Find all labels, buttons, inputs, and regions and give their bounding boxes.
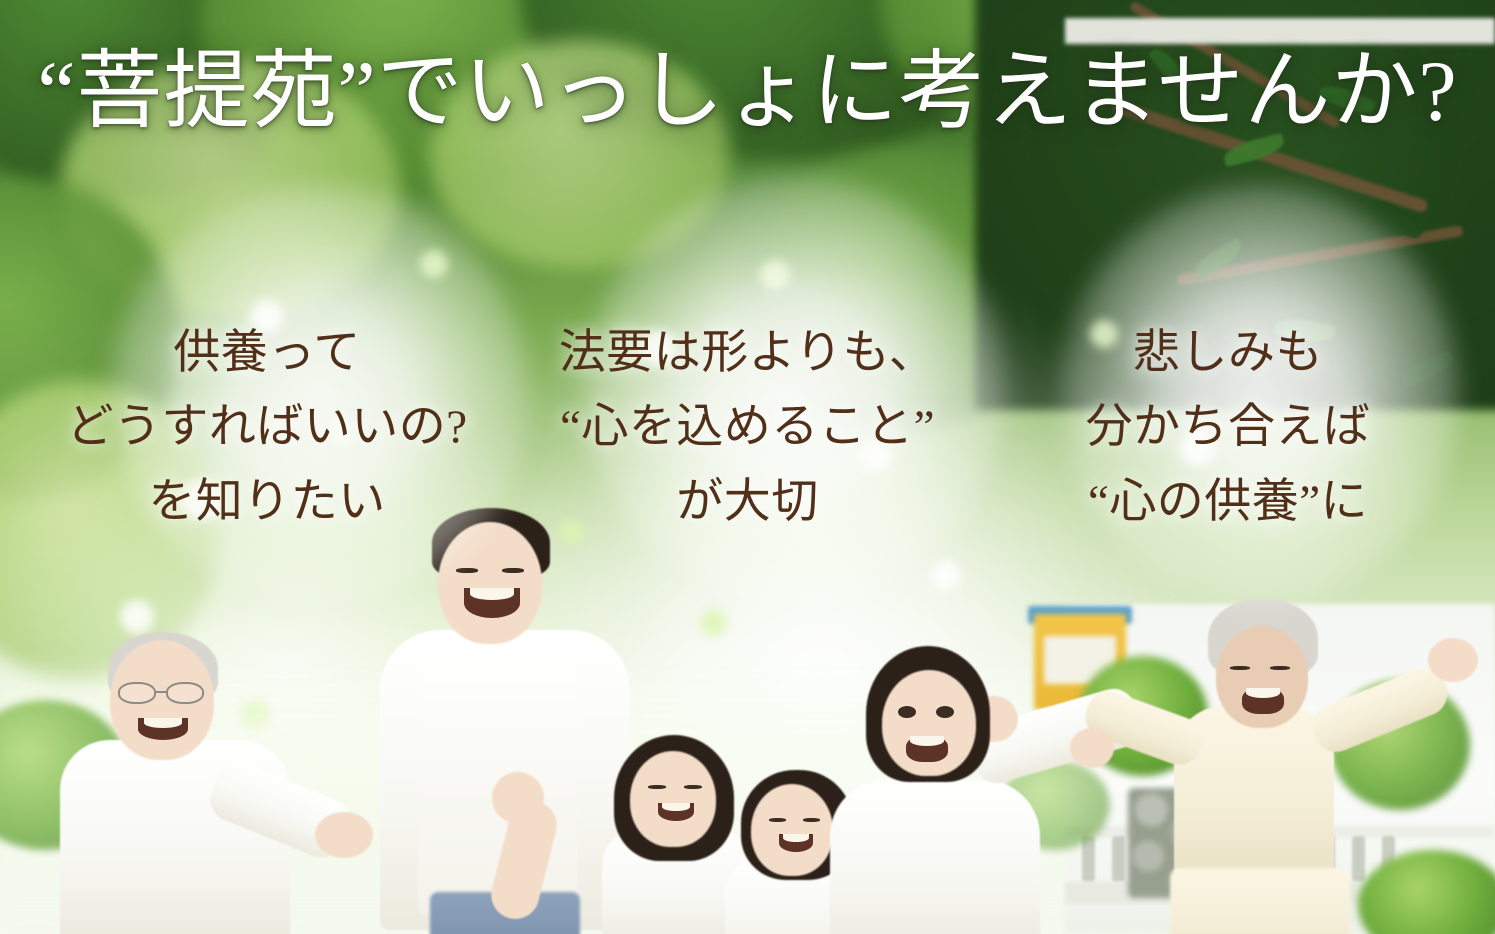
eye	[1230, 666, 1250, 670]
eye	[648, 785, 666, 789]
head	[630, 751, 716, 847]
eye	[936, 706, 954, 718]
glasses-bridge	[156, 691, 166, 693]
eye	[898, 706, 916, 718]
banner-stage: “菩提苑”でいっしょに考えませんか? 供養って どうすればいいの? を知りたい …	[0, 0, 1495, 934]
eye	[769, 818, 786, 822]
hand	[492, 772, 544, 824]
eye	[684, 785, 702, 789]
message-line: 供養って	[52, 316, 482, 390]
message-column-kanashimi: 悲しみも 分かち合えば “心の供養”に	[1013, 316, 1443, 539]
message-line: が大切	[533, 465, 963, 539]
head	[751, 784, 833, 876]
glasses-icon	[118, 682, 156, 704]
wall-cap	[1065, 18, 1495, 44]
skirt	[1170, 868, 1350, 934]
message-line: “心の供養”に	[1013, 465, 1443, 539]
message-line: を知りたい	[52, 465, 482, 539]
message-column-kuyou: 供養って どうすればいいの? を知りたい	[52, 316, 482, 539]
bokeh	[760, 260, 790, 290]
teeth	[662, 803, 690, 811]
arm-right	[1306, 662, 1454, 759]
message-line: 悲しみも	[1013, 316, 1443, 390]
teeth	[783, 834, 809, 842]
message-column-houyou: 法要は形よりも、 “心を込めること” が大切	[533, 316, 963, 539]
teeth	[144, 718, 182, 728]
message-line: どうすればいいの?	[52, 390, 482, 464]
hand	[315, 812, 373, 858]
teeth	[910, 736, 944, 746]
eye	[803, 818, 820, 822]
eye	[456, 568, 478, 573]
message-line: 分かち合えば	[1013, 390, 1443, 464]
blouse	[830, 780, 1040, 934]
message-line: “心を込めること”	[533, 390, 963, 464]
bokeh	[120, 600, 154, 634]
bokeh	[930, 560, 960, 590]
hand-right	[1428, 638, 1478, 682]
glasses-icon	[166, 682, 204, 704]
head	[438, 522, 542, 644]
message-columns: 供養って どうすればいいの? を知りたい 法要は形よりも、 “心を込めること” …	[0, 316, 1495, 539]
person-adult-woman	[830, 640, 1130, 934]
teeth	[1246, 688, 1280, 698]
page-title: “菩提苑”でいっしょに考えませんか?	[0, 48, 1495, 136]
eye	[1270, 666, 1290, 670]
person-elderly-man	[60, 630, 390, 934]
eye	[502, 568, 524, 573]
bokeh	[700, 610, 726, 636]
hand-left	[1070, 728, 1114, 768]
message-line: 法要は形よりも、	[533, 316, 963, 390]
bokeh	[420, 250, 448, 278]
person-elderly-woman	[1130, 580, 1490, 934]
teeth	[470, 588, 514, 600]
